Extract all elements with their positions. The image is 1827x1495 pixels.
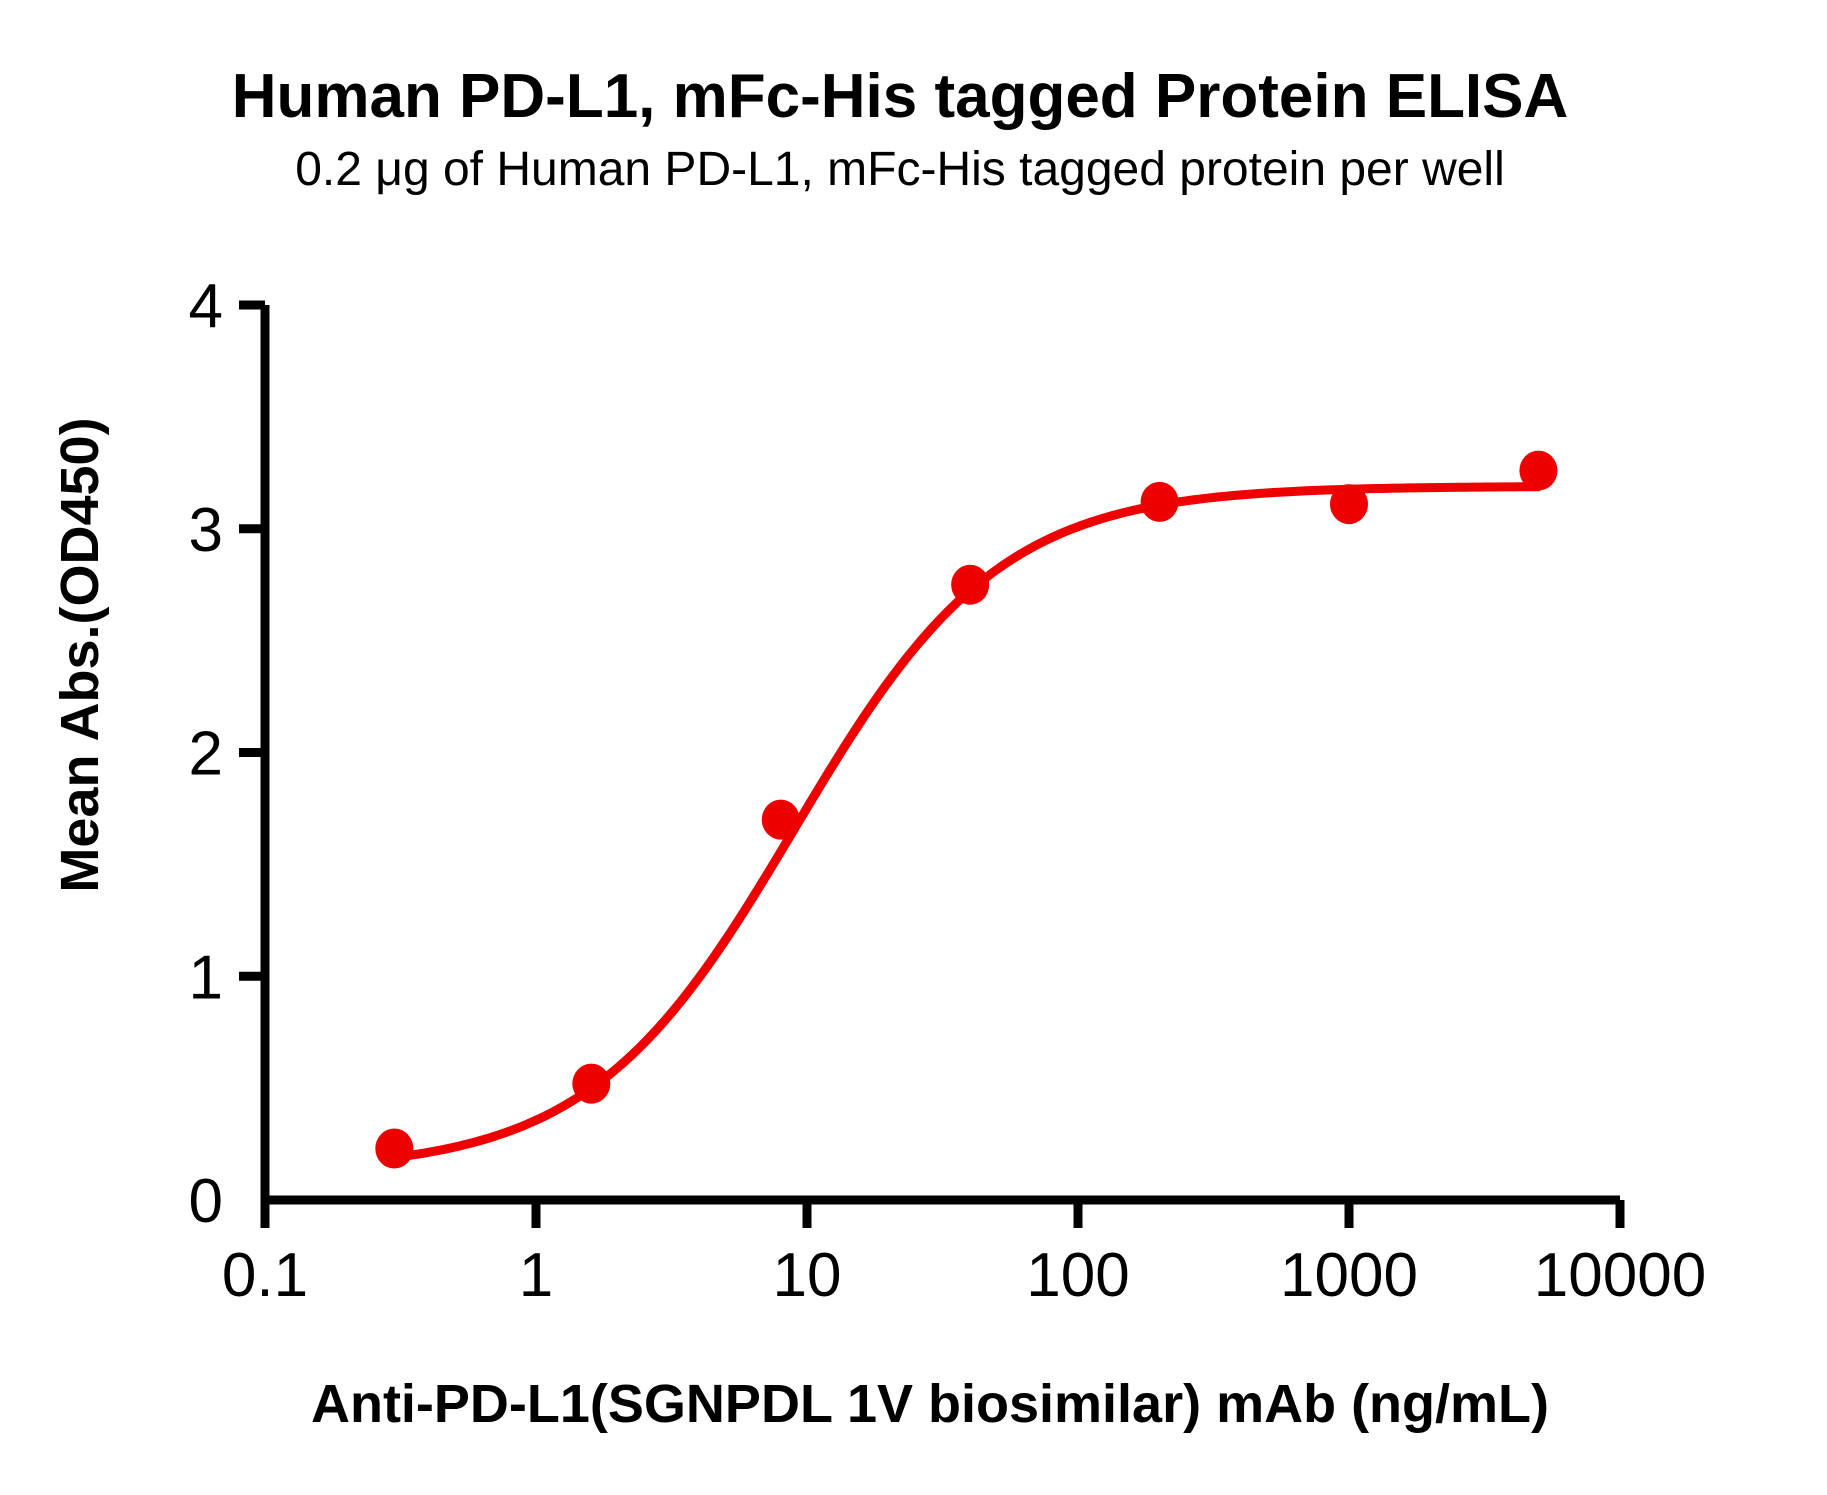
x-tick-label: 1000 — [1280, 1241, 1418, 1310]
x-tick-label: 10000 — [1534, 1241, 1706, 1310]
data-point — [375, 1129, 413, 1169]
x-tick-label: 100 — [1026, 1241, 1129, 1310]
elisa-chart: Human PD-L1, mFc-His tagged Protein ELIS… — [0, 0, 1827, 1495]
y-tick-label: 0 — [189, 1167, 223, 1236]
chart-title: Human PD-L1, mFc-His tagged Protein ELIS… — [232, 62, 1569, 131]
y-tick-label: 1 — [189, 943, 223, 1012]
y-axis-label: Mean Abs.(OD450) — [50, 417, 110, 892]
y-tick-label: 3 — [189, 496, 223, 565]
data-point — [1330, 484, 1368, 524]
data-point — [572, 1064, 610, 1104]
x-tick-label: 0.1 — [222, 1241, 308, 1310]
chart-subtitle: 0.2 μg of Human PD-L1, mFc-His tagged pr… — [295, 143, 1505, 196]
data-point — [951, 565, 989, 605]
x-tick-label: 1 — [519, 1241, 553, 1310]
data-point — [762, 800, 800, 840]
data-point — [1141, 482, 1179, 522]
x-tick-label: 10 — [773, 1241, 842, 1310]
y-tick-label: 4 — [189, 272, 223, 341]
data-point — [1519, 451, 1557, 491]
x-axis-label: Anti-PD-L1(SGNPDL 1V biosimilar) mAb (ng… — [311, 1374, 1549, 1434]
y-tick-label: 2 — [189, 720, 223, 789]
